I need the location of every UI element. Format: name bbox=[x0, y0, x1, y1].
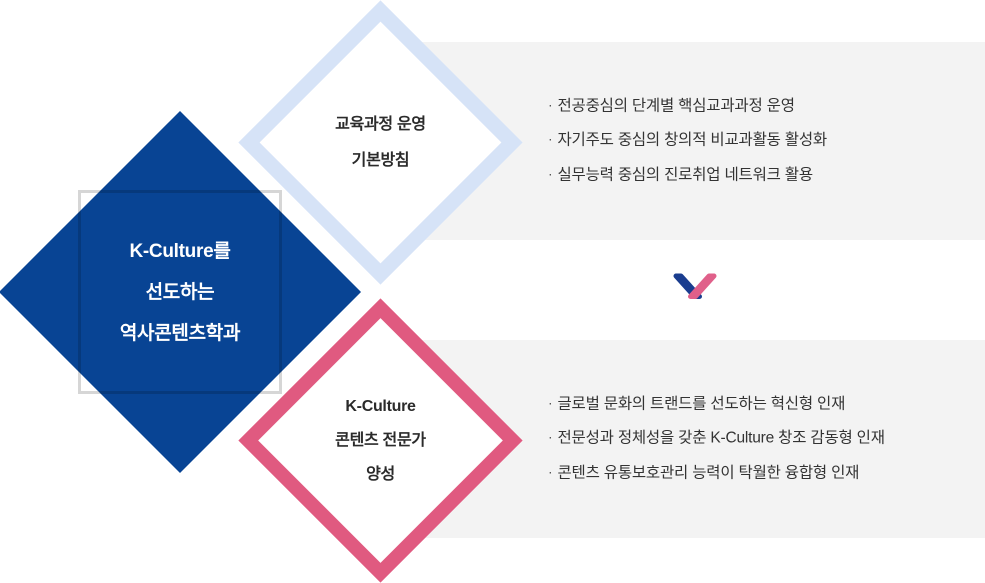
bullet-marker-icon: · bbox=[548, 395, 552, 411]
list-item: ·전공중심의 단계별 핵심교과과정 운영 bbox=[548, 90, 827, 124]
bullet-marker-icon: · bbox=[548, 463, 552, 479]
chevron-down-svg bbox=[671, 270, 719, 306]
list-item: ·콘텐츠 유통보호관리 능력이 탁월한 융합형 인재 bbox=[548, 456, 885, 490]
bullet-text: 전문성과 정체성을 갖춘 K-Culture 창조 감동형 인재 bbox=[557, 430, 884, 447]
bullet-marker-icon: · bbox=[548, 131, 552, 147]
diamond-line: 역사콘텐츠학과 bbox=[120, 313, 240, 354]
list-item: ·실무능력 중심의 진로취업 네트워크 활용 bbox=[548, 158, 827, 192]
curriculum-bullet-list: ·전공중심의 단계별 핵심교과과정 운영 ·자기주도 중심의 창의적 비교과활동… bbox=[548, 90, 827, 193]
main-vision-label: K-Culture를 선도하는 역사콘텐츠학과 bbox=[10, 164, 350, 420]
bullet-text: 실무능력 중심의 진로취업 네트워크 활용 bbox=[557, 166, 812, 183]
diamond-line: 선도하는 bbox=[146, 272, 215, 313]
list-item: ·글로벌 문화의 트랜드를 선도하는 혁신형 인재 bbox=[548, 388, 885, 422]
bullet-marker-icon: · bbox=[548, 429, 552, 445]
talent-bullet-list: ·글로벌 문화의 트랜드를 선도하는 혁신형 인재 ·전문성과 정체성을 갖춘 … bbox=[548, 388, 885, 491]
diamond-line: 기본방침 bbox=[352, 143, 410, 179]
diamond-line: 교육과정 운영 bbox=[335, 107, 426, 143]
diamond-line: 콘텐츠 전문가 bbox=[335, 424, 426, 458]
chevron-down-icon bbox=[671, 270, 719, 306]
bullet-text: 콘텐츠 유통보호관리 능력이 탁월한 융합형 인재 bbox=[557, 464, 859, 481]
bullet-text: 자기주도 중심의 창의적 비교과활동 활성화 bbox=[557, 132, 827, 149]
diamond-line: K-Culture를 bbox=[129, 231, 230, 272]
list-item: ·전문성과 정체성을 갖춘 K-Culture 창조 감동형 인재 bbox=[548, 422, 885, 456]
main-vision-diamond: K-Culture를 선도하는 역사콘텐츠학과 bbox=[52, 164, 308, 420]
bullet-text: 글로벌 문화의 트랜드를 선도하는 혁신형 인재 bbox=[557, 396, 845, 413]
bullet-marker-icon: · bbox=[548, 165, 552, 181]
chevron-right-stroke bbox=[691, 276, 715, 297]
diagram-canvas: ·전공중심의 단계별 핵심교과과정 운영 ·자기주도 중심의 창의적 비교과활동… bbox=[0, 0, 985, 581]
bullet-marker-icon: · bbox=[548, 97, 552, 113]
list-item: ·자기주도 중심의 창의적 비교과활동 활성화 bbox=[548, 124, 827, 158]
bullet-text: 전공중심의 단계별 핵심교과과정 운영 bbox=[557, 98, 794, 115]
diamond-line: K-Culture bbox=[345, 390, 415, 424]
diamond-line: 양성 bbox=[366, 458, 395, 492]
